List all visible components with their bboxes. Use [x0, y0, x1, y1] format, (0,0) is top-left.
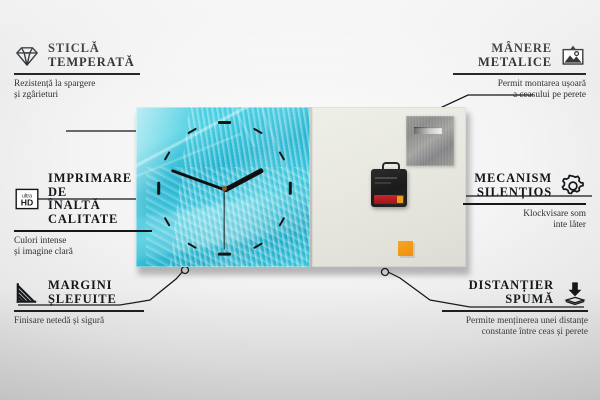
feature-margini-slefuite[interactable]: MARGINI ȘLEFUITE Finisare netedă și sigu… — [14, 279, 146, 327]
feature-title: IMPRIMARE DE ÎNALTĂ CALITATE — [48, 172, 154, 226]
feature-sticla-temperata[interactable]: STICLĂ TEMPERATĂ Rezistență la spargere … — [14, 42, 144, 102]
clock-second-hand — [223, 189, 224, 249]
feature-mecanism-silentios[interactable]: MECANISM SILENȚIOS Klockvisare som inte … — [461, 172, 586, 232]
feature-subtitle: Culori intense și imagine clară — [14, 236, 154, 259]
picture-hanger-icon — [560, 43, 586, 69]
clock-back-panel — [312, 107, 466, 267]
foam-spacer-icon — [562, 280, 588, 306]
feature-manere-metalice[interactable]: MÂNERE METALICE Permit montarea ușoară a… — [451, 42, 586, 102]
clock-pivot — [222, 186, 227, 191]
feature-rule — [14, 310, 144, 312]
mechanism-battery — [374, 195, 404, 204]
feature-rule — [463, 203, 586, 205]
svg-text:HD: HD — [21, 198, 33, 208]
feature-subtitle: Permite menținerea unei distanțe constan… — [440, 316, 588, 339]
feature-title: STICLĂ TEMPERATĂ — [48, 42, 135, 69]
clock-tick — [289, 182, 292, 195]
feature-imprimare-calitate[interactable]: ultra HD IMPRIMARE DE ÎNALTĂ CALITATE Cu… — [14, 172, 154, 259]
product-image — [136, 107, 466, 270]
feature-rule — [14, 73, 140, 75]
gear-icon — [560, 173, 586, 199]
feature-title: MARGINI ȘLEFUITE — [48, 279, 117, 306]
feature-title: MÂNERE METALICE — [478, 42, 552, 69]
polished-edges-icon — [14, 280, 40, 306]
mechanism-hook — [382, 162, 400, 173]
feature-subtitle: Permit montarea ușoară a ceasului pe per… — [451, 79, 586, 102]
feature-title: DISTANȚIER SPUMĂ — [469, 279, 554, 306]
metal-handle-plate — [406, 116, 454, 166]
diamond-icon — [14, 43, 40, 69]
clock-tick — [218, 253, 231, 256]
clock-front-panel — [136, 107, 310, 267]
clock-tick — [157, 182, 160, 195]
ultra-hd-icon: ultra HD — [14, 186, 40, 212]
feature-rule — [14, 230, 152, 232]
feature-subtitle: Rezistență la spargere și zgârieturi — [14, 79, 144, 102]
feature-title: MECANISM SILENȚIOS — [474, 172, 552, 199]
infographic-stage: STICLĂ TEMPERATĂ Rezistență la spargere … — [0, 0, 600, 400]
feature-subtitle: Klockvisare som inte låter — [461, 209, 586, 232]
feature-rule — [453, 73, 586, 75]
foam-spacer — [398, 241, 413, 256]
clock-mechanism — [371, 169, 407, 207]
feature-subtitle: Finisare netedă și sigură — [14, 316, 146, 328]
feature-rule — [442, 310, 588, 312]
feature-distantier-spuma[interactable]: DISTANȚIER SPUMĂ Permite menținerea unei… — [440, 279, 588, 339]
clock-tick — [218, 121, 231, 124]
